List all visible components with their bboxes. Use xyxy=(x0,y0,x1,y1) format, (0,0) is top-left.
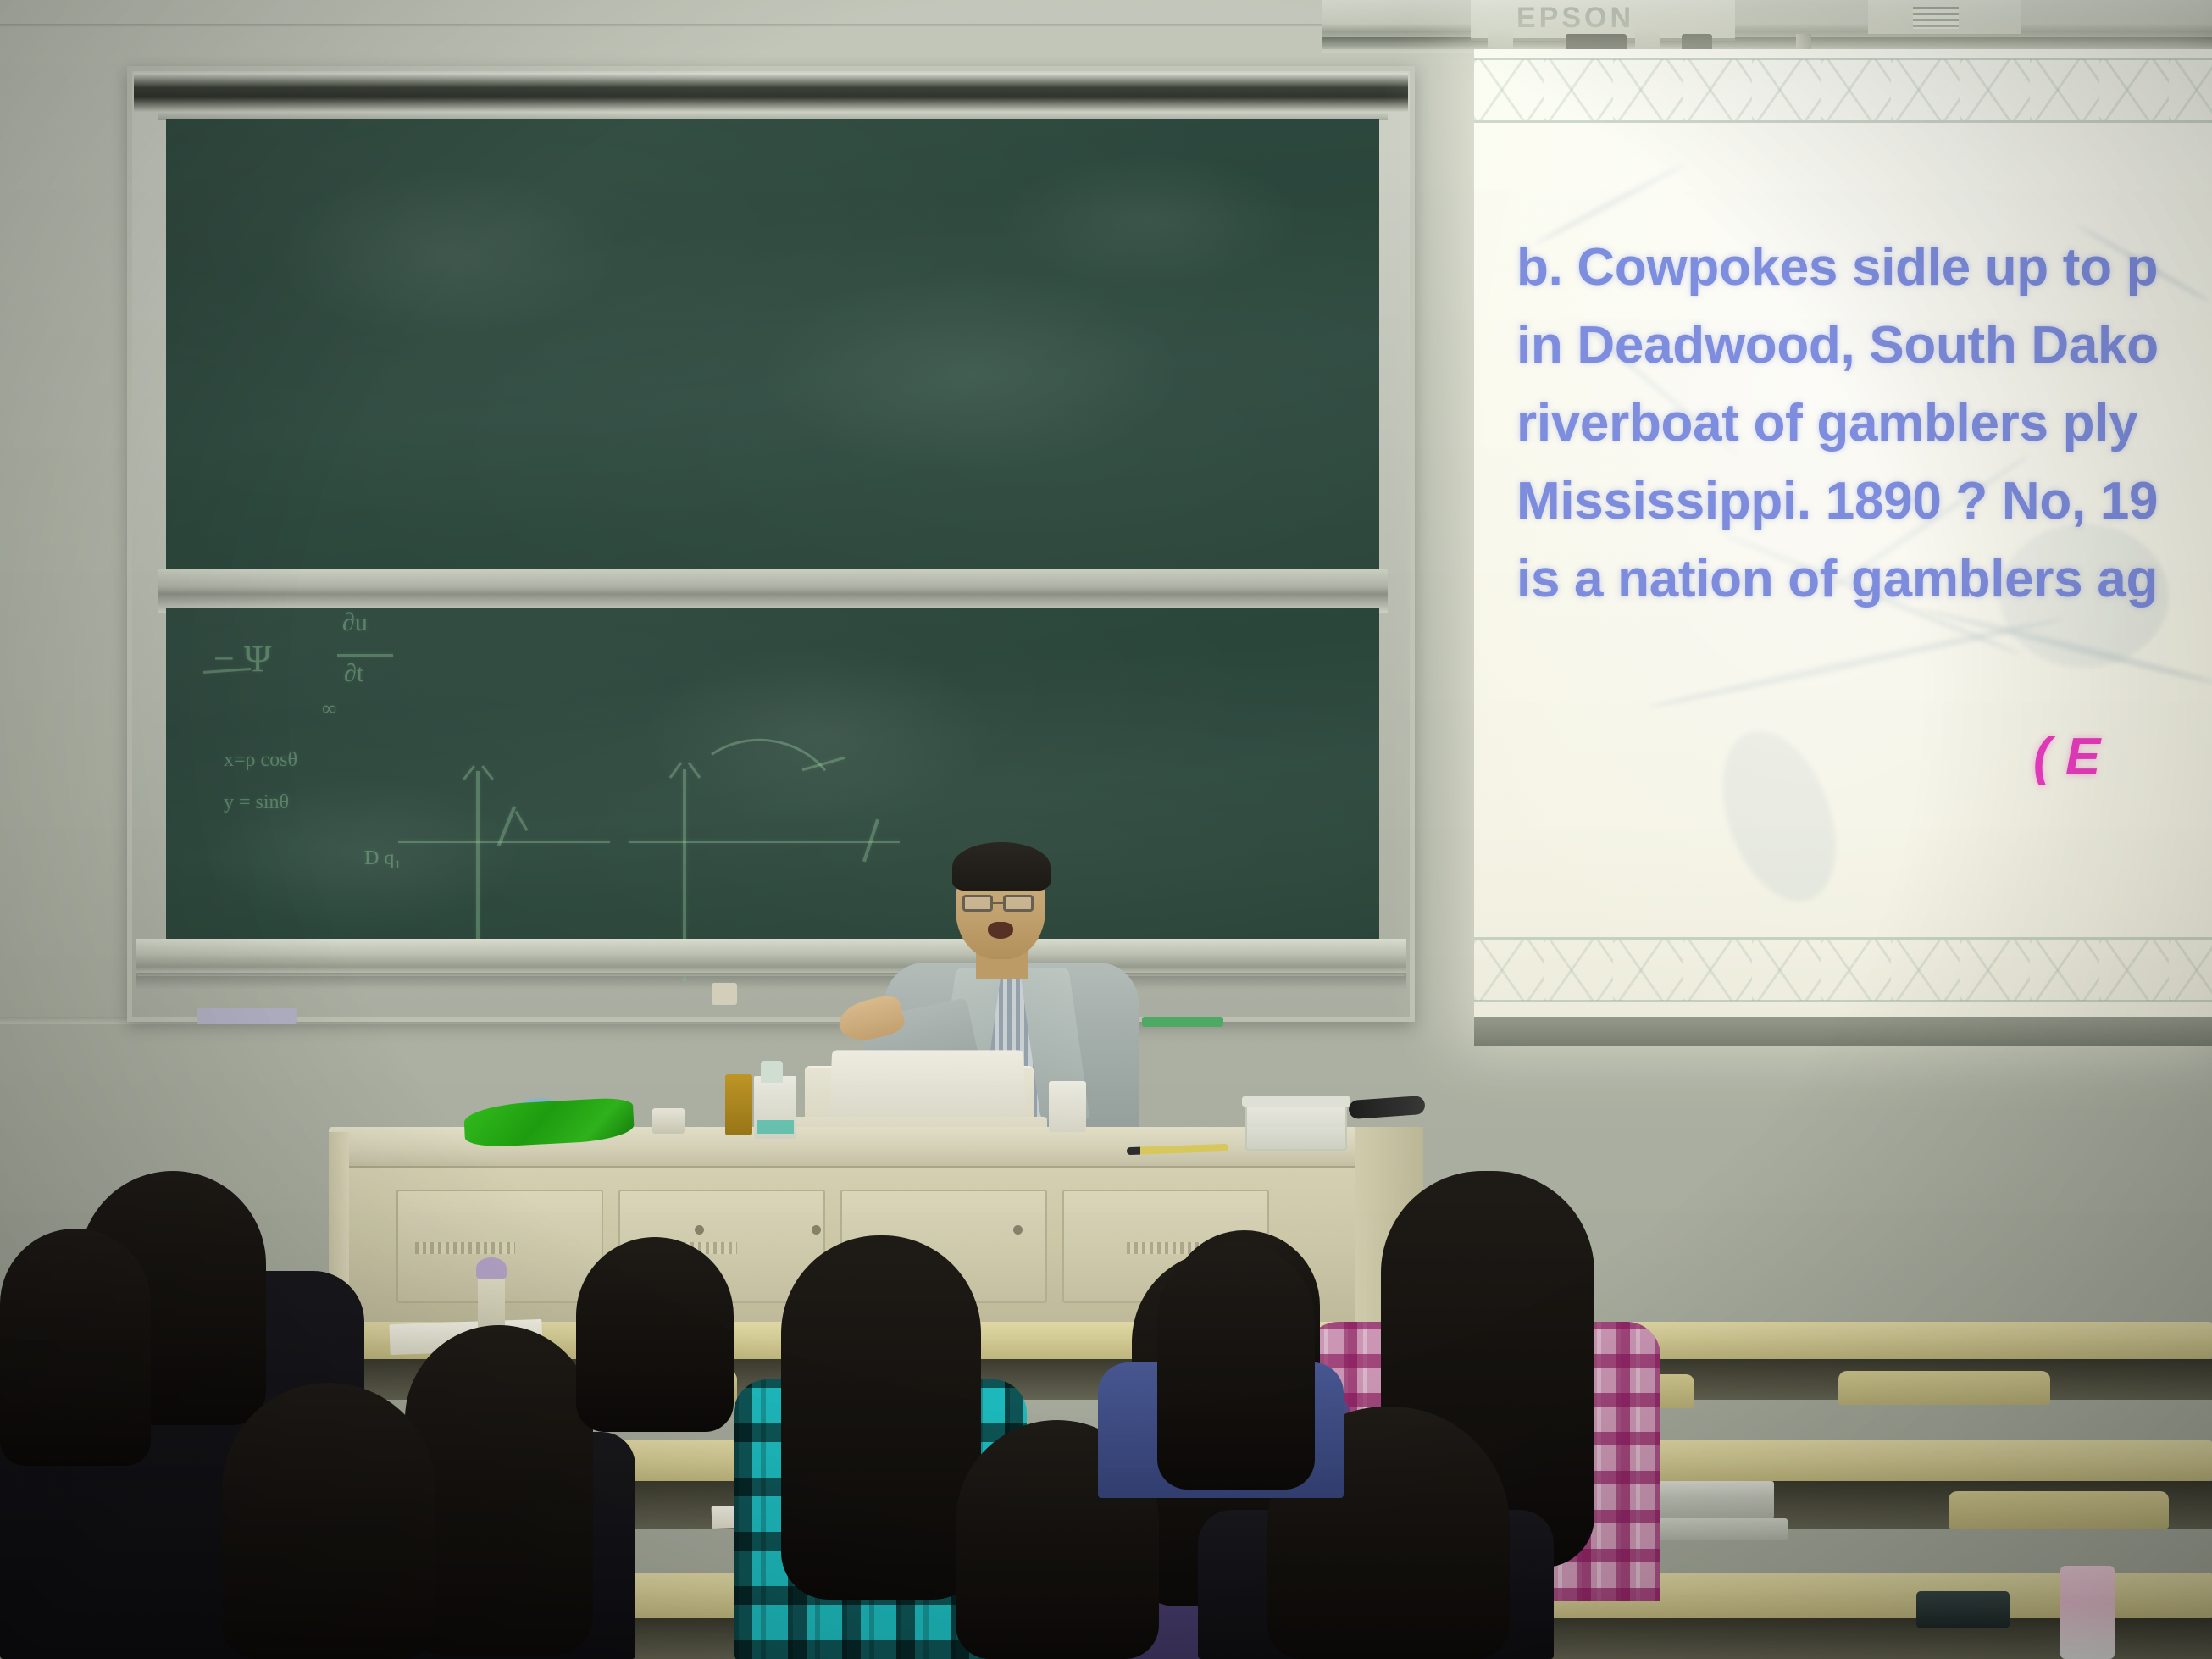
student-hair-1b xyxy=(0,1229,151,1466)
chalkboard-panel-upper xyxy=(166,119,1379,576)
chalkboard-slide-track xyxy=(134,73,1408,112)
slide-line-3: Mississippi. 1890 ? No, 19 xyxy=(1516,463,2212,541)
lecture-desk-vent-1 xyxy=(415,1242,515,1254)
lecture-hall-photo: EPSON − Ψ ∂u ∂t ∞ x=ρ cosθ y = sinθ D q₁ xyxy=(0,0,2212,1659)
seat-back-3 xyxy=(1838,1371,2050,1405)
chalk-axis-y-1 xyxy=(476,771,480,940)
glasses-bridge-icon xyxy=(993,902,1003,904)
slide-border-rule-top2 xyxy=(1474,120,2212,123)
purple-bottle-cap xyxy=(476,1257,507,1279)
chalk-axis-x-1 xyxy=(398,841,610,843)
glasses-lens-left-icon xyxy=(962,895,993,912)
student-hair-back-1 xyxy=(576,1237,734,1432)
chalk-piece-white xyxy=(712,983,737,1005)
dark-device xyxy=(1916,1591,2010,1628)
projector-grill-icon xyxy=(1913,7,1959,29)
student-hair-3 xyxy=(781,1235,981,1600)
pink-water-bottle xyxy=(2060,1566,2115,1659)
slide-border-top xyxy=(1474,59,2212,120)
lecture-desk-knob-1[interactable] xyxy=(695,1225,704,1235)
lecture-desk-knob-3[interactable] xyxy=(1013,1225,1023,1235)
student-hair-1c xyxy=(222,1383,435,1659)
seat-back-4 xyxy=(1949,1491,2169,1529)
ceiling-rail-bar xyxy=(1322,37,2212,49)
white-carton-label xyxy=(757,1120,794,1134)
plastic-bin xyxy=(1245,1101,1347,1151)
chalkboard-tray-shadow xyxy=(136,973,1406,990)
chalk-fraction-bar xyxy=(337,654,393,657)
chalkboard-eraser xyxy=(197,1008,297,1024)
glasses-lens-right-icon xyxy=(1003,895,1034,912)
chalkboard-panel-divider xyxy=(158,569,1388,613)
slide-border-rule-bot2 xyxy=(1474,937,2212,940)
chalkboard-tray xyxy=(136,939,1406,976)
student-hair-4 xyxy=(1157,1242,1315,1490)
lecture-desk-knob-2[interactable] xyxy=(812,1225,821,1235)
slide-border-bottom xyxy=(1474,940,2212,1001)
amber-bottle xyxy=(725,1074,752,1135)
chalk-piece-green xyxy=(1142,1017,1223,1027)
slide-line-4: is a nation of gamblers ag xyxy=(1516,541,2212,619)
projection-screen-frame xyxy=(1474,1017,2212,1046)
white-cup-secondary xyxy=(1049,1081,1086,1132)
slide-accent-text: ( E xyxy=(2033,727,2100,787)
slide-border-rule-top xyxy=(1474,58,2212,60)
lecturer-mouth xyxy=(988,922,1013,939)
projection-screen: b. Cowpokes sidle up to p in Deadwood, S… xyxy=(1474,49,2212,1028)
lecturer-hair xyxy=(952,842,1051,891)
projector-brand-label: EPSON xyxy=(1516,2,1634,35)
carton-clip xyxy=(761,1061,783,1083)
slide-border-rule-bot xyxy=(1474,1000,2212,1002)
plastic-bin-lid xyxy=(1242,1096,1350,1107)
slide-line-0: b. Cowpokes sidle up to p xyxy=(1516,229,2212,307)
slide-line-2: riverboat of gamblers ply xyxy=(1516,385,2212,463)
slide-line-1: in Deadwood, South Dako xyxy=(1516,307,2212,385)
white-cup xyxy=(652,1108,685,1134)
